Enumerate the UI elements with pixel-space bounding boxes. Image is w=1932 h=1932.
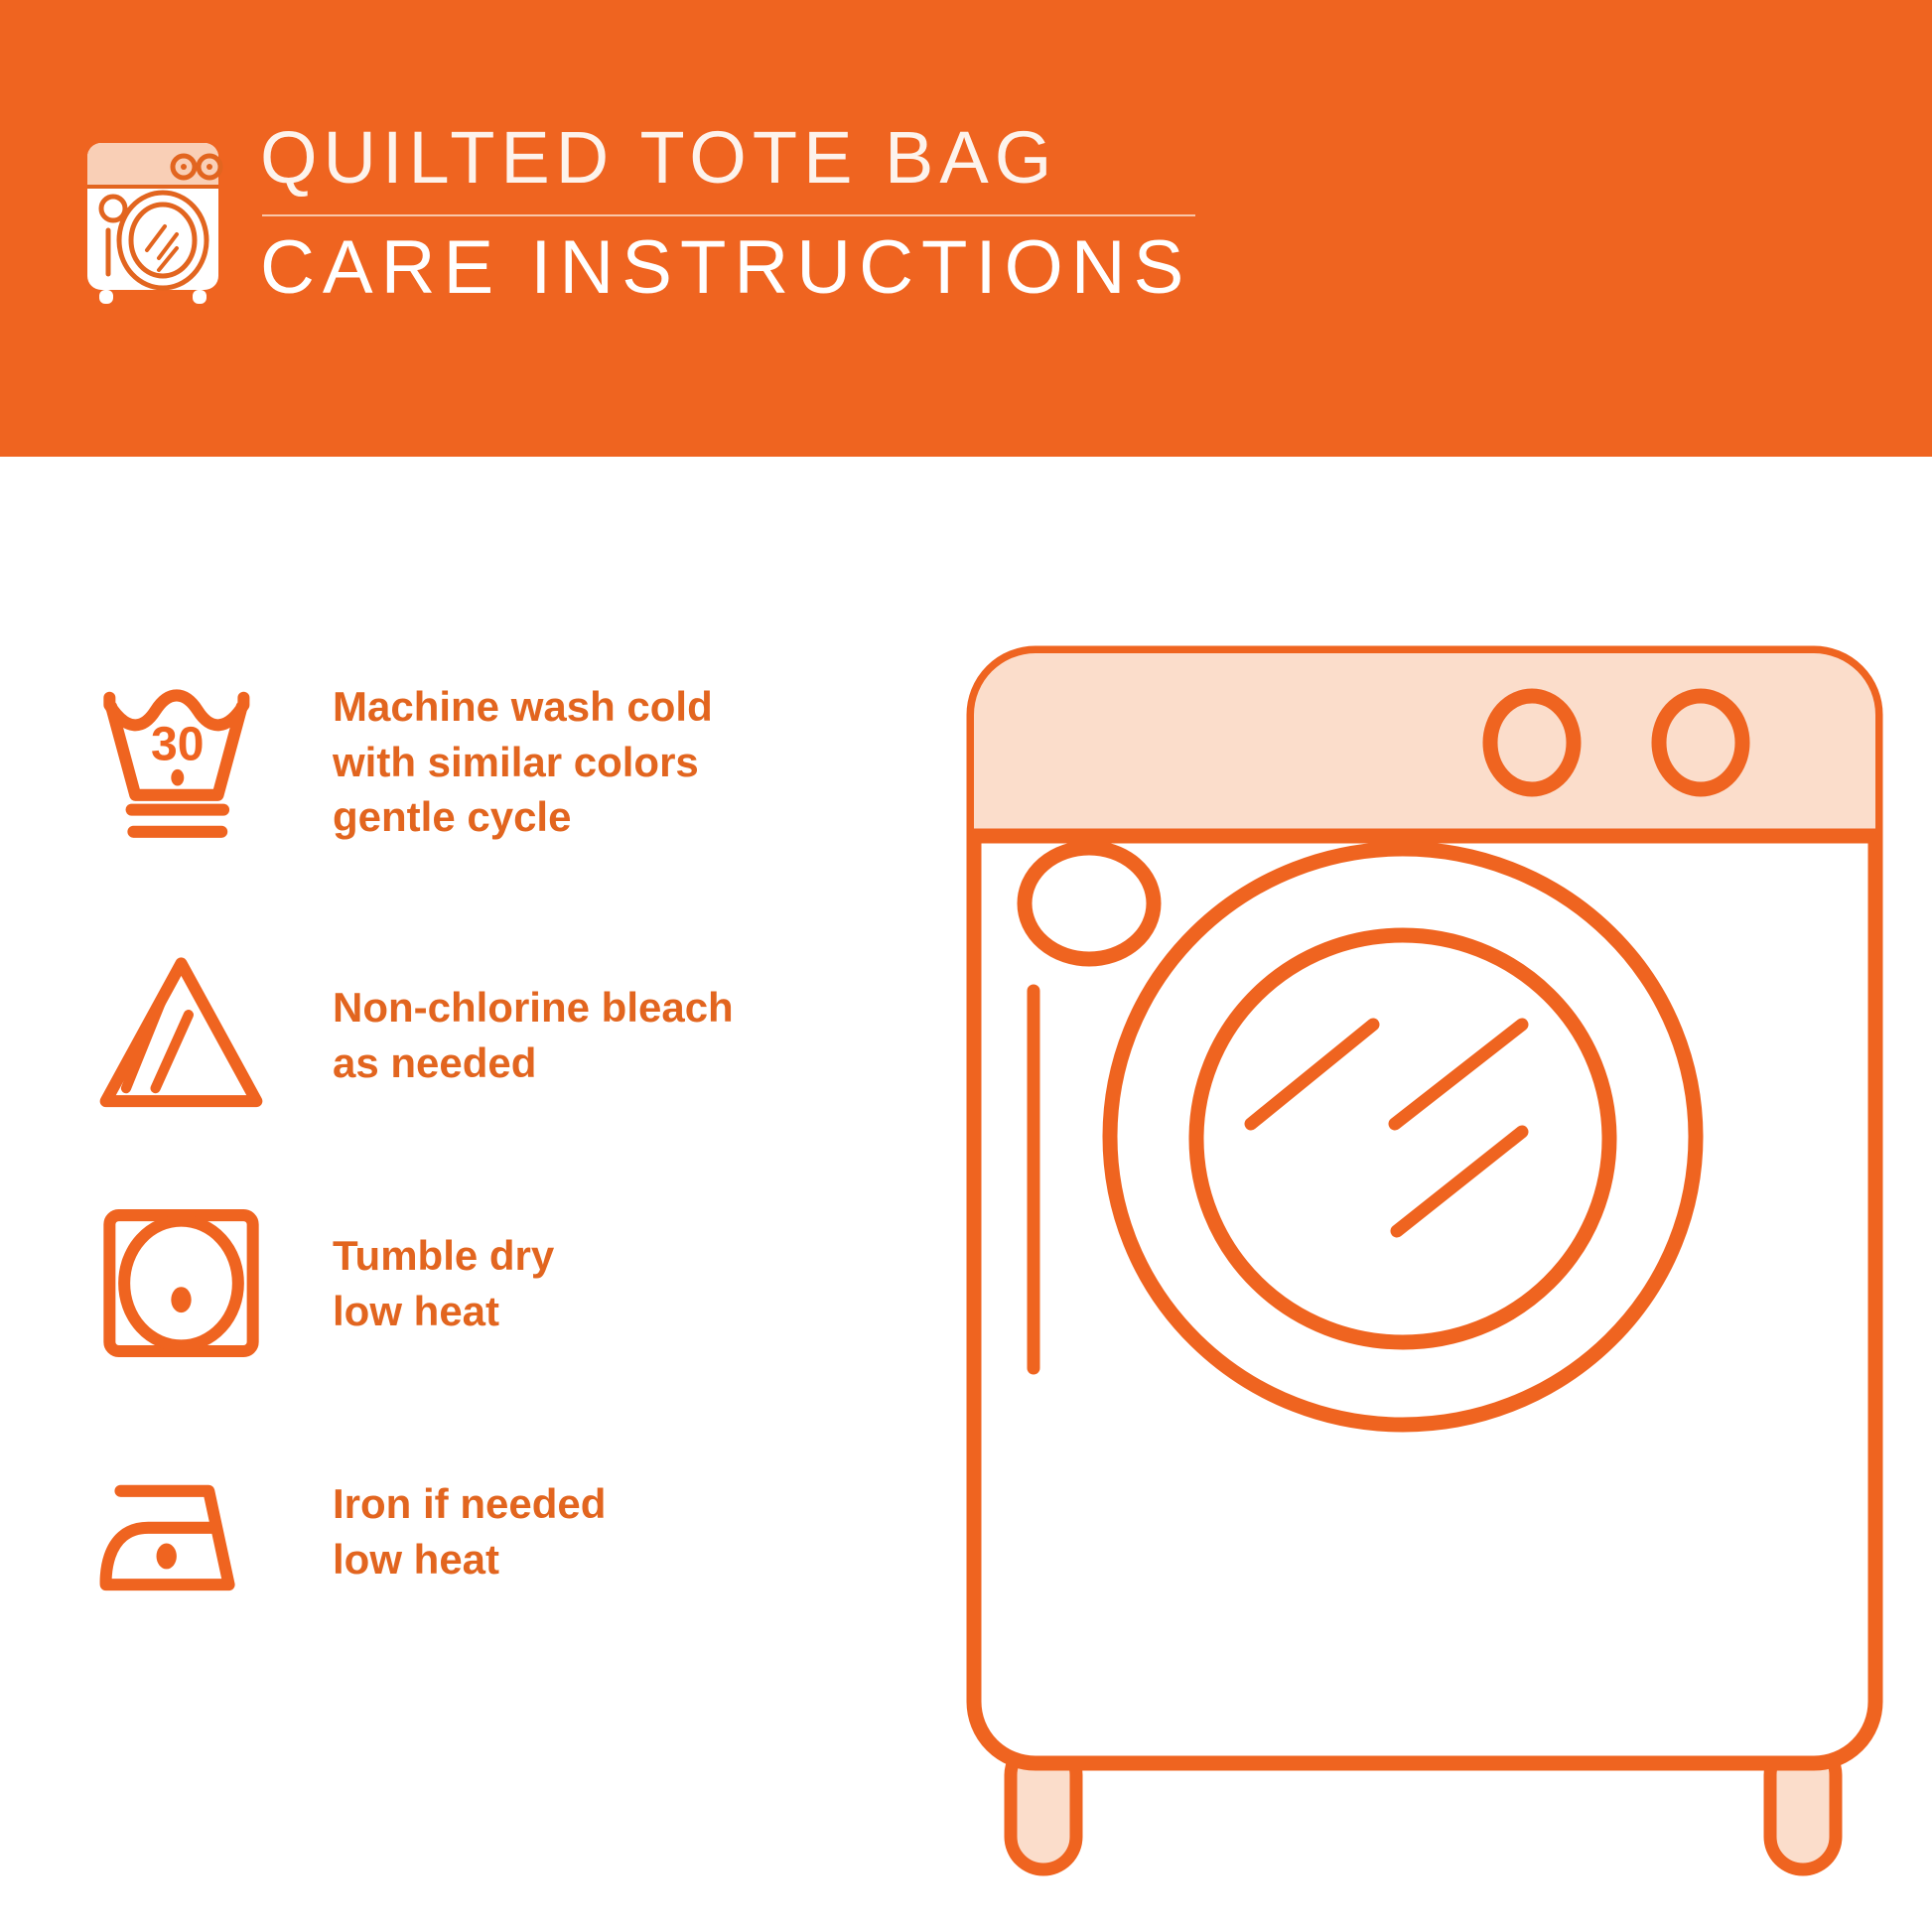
tumble-dry-low-heat-icon [89, 1191, 273, 1375]
care-label: Machine wash cold with similar colors ge… [333, 679, 713, 844]
care-label: Non-chlorine bleach as needed [333, 980, 734, 1090]
header-banner: QUILTED TOTE BAG CARE INSTRUCTIONS [0, 0, 1932, 457]
wash-temperature-value: 30 [151, 718, 205, 771]
large-washing-machine-illustration [948, 616, 1901, 1896]
page-title: QUILTED TOTE BAG [260, 121, 1195, 203]
care-row: Non-chlorine bleach as needed [89, 943, 943, 1127]
header-title-block: QUILTED TOTE BAG CARE INSTRUCTIONS [260, 121, 1195, 306]
page-subtitle: CARE INSTRUCTIONS [260, 230, 1195, 306]
knob[interactable] [1659, 696, 1742, 789]
care-row: 30 Machine wash cold with similar colors… [89, 670, 943, 854]
care-row: Iron if needed low heat [89, 1440, 943, 1623]
header-content: QUILTED TOTE BAG CARE INSTRUCTIONS [77, 121, 1195, 306]
triangle-non-chlorine-bleach-icon [89, 943, 273, 1127]
care-label: Tumble dry low heat [333, 1228, 554, 1338]
care-label: Iron if needed low heat [333, 1476, 606, 1587]
title-divider [262, 214, 1195, 216]
knob[interactable] [1490, 696, 1574, 789]
care-instruction-list: 30 Machine wash cold with similar colors… [0, 457, 943, 1932]
iron-low-heat-icon [89, 1440, 273, 1623]
care-row: Tumble dry low heat [89, 1191, 943, 1375]
wash-tub-30-gentle-icon: 30 [89, 670, 273, 854]
washing-machine-icon [77, 135, 228, 306]
